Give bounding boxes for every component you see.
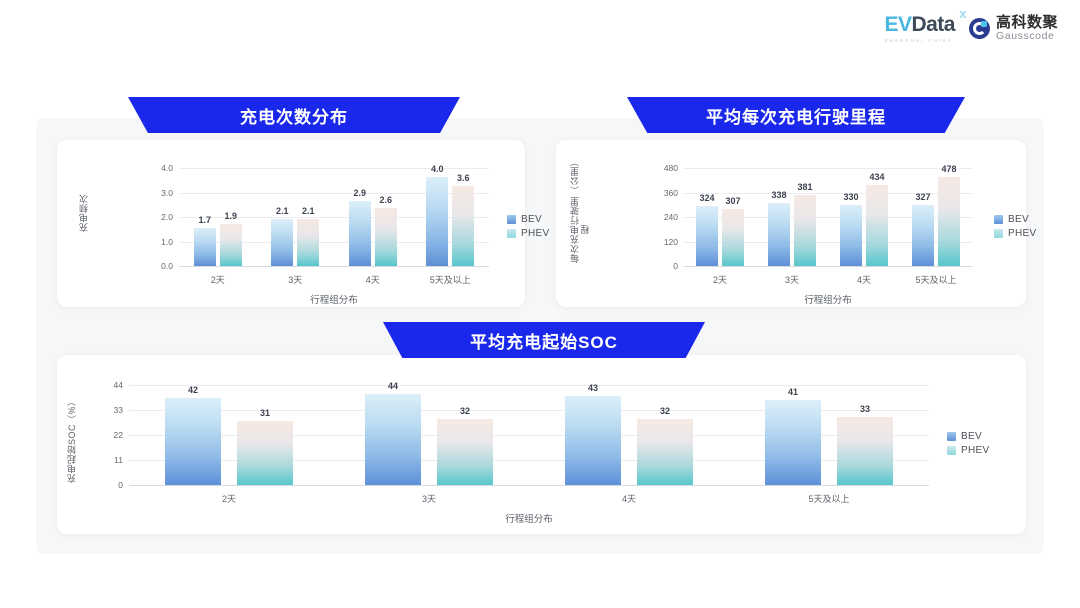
gausscode-text: 高科数聚 Gausscode (996, 15, 1058, 42)
chart-title-2: 平均每次充电行驶里程 (706, 103, 886, 128)
bar-value-label: 32 (660, 406, 670, 416)
x-axis-tick-label: 4天 (857, 273, 871, 286)
legend-label: BEV (1008, 214, 1029, 225)
bar-phev[interactable] (220, 224, 242, 266)
bar-bev[interactable] (349, 201, 371, 266)
y-axis-tick-label: 0.0 (161, 261, 173, 271)
bar-phev[interactable] (452, 186, 474, 266)
chart-title-banner-3: 平均充电起始SOC (383, 322, 705, 358)
bar-value-label: 2.1 (302, 206, 315, 216)
bar-value-label: 3.6 (457, 173, 470, 183)
bar-bev[interactable] (426, 177, 448, 266)
bar-phev[interactable] (637, 419, 693, 485)
gridline (129, 385, 929, 386)
evdata-tagline: shanghai china (884, 38, 952, 43)
bar-phev[interactable] (837, 417, 893, 485)
bar-phev[interactable] (794, 195, 816, 266)
gausscode-name-cn: 高科数聚 (996, 15, 1058, 31)
legend-label: PHEV (1008, 228, 1036, 239)
bar-phev[interactable] (938, 177, 960, 266)
legend-swatch-icon (947, 432, 956, 441)
chart-title-banner-2: 平均每次充电行驶里程 (627, 97, 965, 133)
bar-value-label: 44 (388, 381, 398, 391)
brand-header: EVDatax shanghai china 高科数聚 Gausscode (884, 14, 1058, 43)
plot-area: 0.01.02.03.04.01.71.92天2.12.13天2.92.64天4… (179, 168, 489, 266)
y-axis-tick-label: 0 (118, 480, 123, 490)
bar-bev[interactable] (271, 219, 293, 266)
bar-value-label: 4.0 (431, 164, 444, 174)
x-axis-tick-label: 2天 (222, 492, 236, 505)
evdata-data-text: Data (911, 13, 955, 36)
x-axis-tick-label: 3天 (422, 492, 436, 505)
legend-item-bev[interactable]: BEV (507, 214, 549, 225)
x-axis-tick-label: 4天 (622, 492, 636, 505)
y-axis-tick-label: 44 (114, 380, 123, 390)
gausscode-logo: 高科数聚 Gausscode (969, 15, 1058, 42)
x-axis-line (684, 266, 972, 267)
bar-bev[interactable] (194, 228, 216, 266)
y-axis-tick-label: 480 (664, 163, 678, 173)
bar-phev[interactable] (375, 208, 397, 266)
bar-value-label: 1.9 (224, 211, 237, 221)
legend-item-bev[interactable]: BEV (994, 214, 1036, 225)
y-axis-tick-label: 3.0 (161, 188, 173, 198)
y-axis-tick-label: 240 (664, 212, 678, 222)
x-axis-tick-label: 5天及以上 (808, 492, 849, 505)
x-axis-tick-label: 2天 (713, 273, 727, 286)
bar-value-label: 42 (188, 385, 198, 395)
gausscode-name-en: Gausscode (996, 31, 1058, 42)
x-axis-tick-label: 4天 (366, 273, 380, 286)
legend-label: BEV (961, 431, 982, 442)
y-axis-tick-label: 360 (664, 188, 678, 198)
y-axis-tick-label: 2.0 (161, 212, 173, 222)
bar-value-label: 330 (843, 192, 858, 202)
bar-bev[interactable] (165, 398, 221, 485)
bar-value-label: 31 (260, 408, 270, 418)
x-axis-tick-label: 3天 (288, 273, 302, 286)
bar-value-label: 478 (941, 164, 956, 174)
bar-value-label: 32 (460, 406, 470, 416)
y-axis-title-line2: （%） (67, 396, 77, 424)
x-axis-line (179, 266, 489, 267)
y-axis-title-line2: （公里） (570, 160, 591, 195)
bar-value-label: 434 (869, 172, 884, 182)
x-axis-tick-label: 2天 (211, 273, 225, 286)
legend-item-phev[interactable]: PHEV (947, 445, 989, 456)
legend-swatch-icon (507, 229, 516, 238)
gausscode-mark-icon (969, 18, 990, 39)
x-axis-tick-label: 5天及以上 (915, 273, 956, 286)
bar-chart-start-soc: 充电起始SOC（%）01122334442312天44323天43324天413… (57, 355, 1026, 534)
bar-value-label: 338 (771, 190, 786, 200)
y-axis-tick-label: 1.0 (161, 237, 173, 247)
y-axis-tick-label: 120 (664, 237, 678, 247)
chart-legend: BEVPHEV (994, 214, 1036, 239)
bar-value-label: 1.7 (198, 215, 211, 225)
bar-bev[interactable] (565, 396, 621, 485)
legend-label: PHEV (521, 228, 549, 239)
bar-phev[interactable] (722, 209, 744, 266)
bar-bev[interactable] (696, 206, 718, 266)
legend-item-bev[interactable]: BEV (947, 431, 989, 442)
bar-value-label: 33 (860, 404, 870, 414)
x-axis-line (129, 485, 929, 486)
bar-value-label: 381 (797, 182, 812, 192)
y-axis-tick-label: 33 (114, 405, 123, 415)
bar-value-label: 307 (725, 196, 740, 206)
y-axis-title-line1: 每次充电行驶里程 (570, 195, 591, 264)
evdata-ev-text: EV (884, 13, 911, 36)
bar-value-label: 2.9 (353, 188, 366, 198)
y-axis-title: 充电频次 (79, 180, 89, 246)
bar-value-label: 324 (699, 193, 714, 203)
legend-swatch-icon (947, 446, 956, 455)
plot-area: 01122334442312天44323天43324天41335天及以上 (129, 385, 929, 485)
chart-card-mileage-per-charge: 每次充电行驶里程（公里）01202403604803243072天3383813… (556, 140, 1026, 307)
legend-item-phev[interactable]: PHEV (507, 228, 549, 239)
chart-card-start-soc: 充电起始SOC（%）01122334442312天44323天43324天413… (57, 355, 1026, 534)
bar-chart-charging-frequency: 充电频次0.01.02.03.04.01.71.92天2.12.13天2.92.… (57, 140, 525, 307)
y-axis-tick-label: 22 (114, 430, 123, 440)
chart-title-3: 平均充电起始SOC (470, 328, 618, 353)
bar-value-label: 43 (588, 383, 598, 393)
plot-area: 01202403604803243072天3383813天3304344天327… (684, 168, 972, 266)
y-axis-tick-label: 0 (673, 261, 678, 271)
bar-bev[interactable] (912, 205, 934, 266)
bar-value-label: 2.1 (276, 206, 289, 216)
y-axis-title-line1: 充电起始SOC (67, 424, 77, 483)
bar-bev[interactable] (768, 203, 790, 266)
legend-swatch-icon (994, 229, 1003, 238)
evdata-wordmark: EVDatax (884, 14, 955, 35)
bar-bev[interactable] (840, 205, 862, 266)
legend-swatch-icon (507, 215, 516, 224)
bar-chart-mileage-per-charge: 每次充电行驶里程（公里）01202403604803243072天3383813… (556, 140, 1026, 307)
chart-card-charging-frequency: 充电频次0.01.02.03.04.01.71.92天2.12.13天2.92.… (57, 140, 525, 307)
legend-label: PHEV (961, 445, 989, 456)
legend-swatch-icon (994, 215, 1003, 224)
y-axis-tick-label: 4.0 (161, 163, 173, 173)
bar-value-label: 327 (915, 192, 930, 202)
x-axis-title: 行程组分布 (505, 511, 553, 525)
bar-phev[interactable] (437, 419, 493, 485)
evdata-logo: EVDatax shanghai china (884, 14, 955, 43)
x-axis-title: 行程组分布 (310, 292, 358, 306)
x-axis-title: 行程组分布 (804, 292, 852, 306)
legend-item-phev[interactable]: PHEV (994, 228, 1036, 239)
chart-legend: BEVPHEV (947, 431, 989, 456)
bar-bev[interactable] (765, 400, 821, 485)
bar-phev[interactable] (297, 219, 319, 266)
y-axis-title: 充电起始SOC（%） (67, 383, 77, 483)
y-axis-tick-label: 11 (114, 455, 123, 465)
bar-bev[interactable] (365, 394, 421, 485)
y-axis-title: 每次充电行驶里程（公里） (570, 160, 591, 264)
x-axis-tick-label: 5天及以上 (430, 273, 471, 286)
bar-value-label: 41 (788, 387, 798, 397)
gridline (684, 168, 972, 169)
bar-value-label: 2.6 (379, 195, 392, 205)
bar-phev[interactable] (237, 421, 293, 485)
chart-title-banner-1: 充电次数分布 (128, 97, 460, 133)
chart-legend: BEVPHEV (507, 214, 549, 239)
bar-phev[interactable] (866, 185, 888, 266)
x-axis-tick-label: 3天 (785, 273, 799, 286)
chart-title-1: 充电次数分布 (240, 103, 348, 128)
legend-label: BEV (521, 214, 542, 225)
evdata-x-icon: x (959, 7, 966, 20)
